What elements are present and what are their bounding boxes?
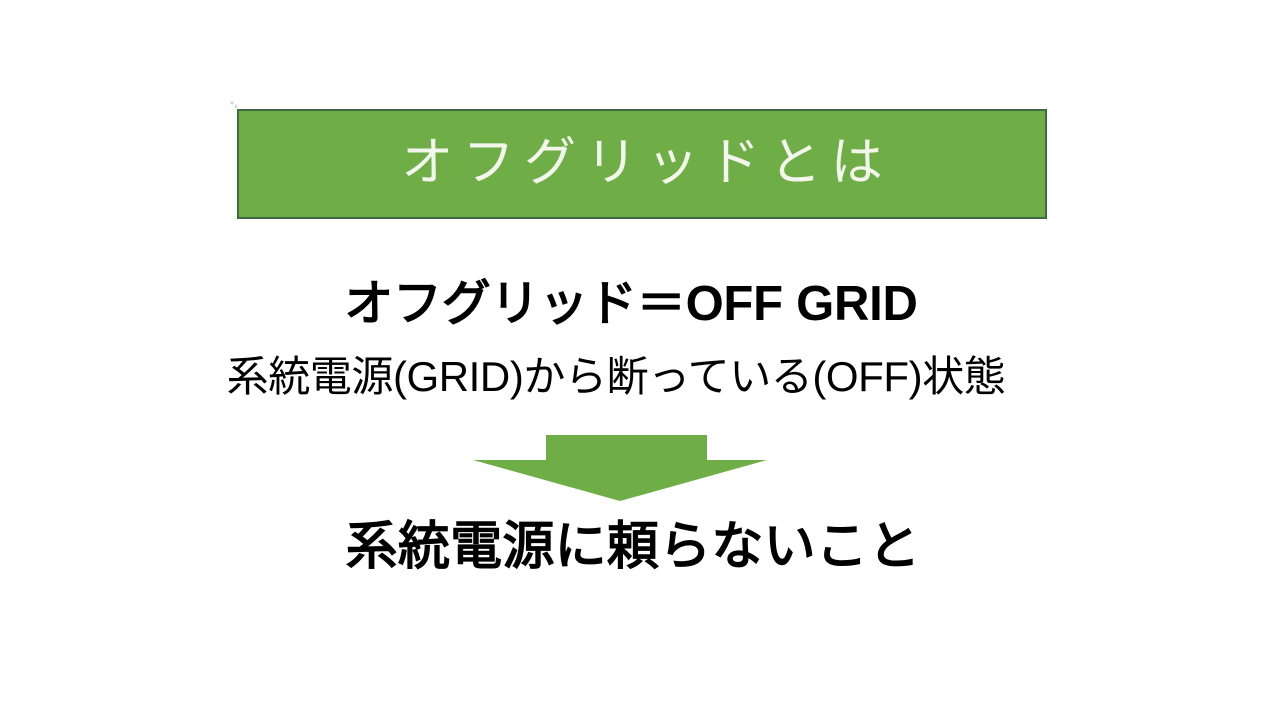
- definition-line: 系統電源(GRID)から断っている(OFF)状態: [0, 352, 1232, 402]
- conclusion-line: 系統電源に頼らないこと: [0, 516, 1266, 578]
- down-arrow-icon: [473, 435, 767, 501]
- equation-line: オフグリッド＝OFF GRID: [0, 275, 1262, 333]
- page-title: オフグリッドとは: [392, 138, 892, 190]
- title-banner: オフグリッドとは: [237, 109, 1047, 219]
- slide-canvas: オフグリッドとは オフグリッド＝OFF GRID 系統電源(GRID)から断って…: [0, 0, 1280, 720]
